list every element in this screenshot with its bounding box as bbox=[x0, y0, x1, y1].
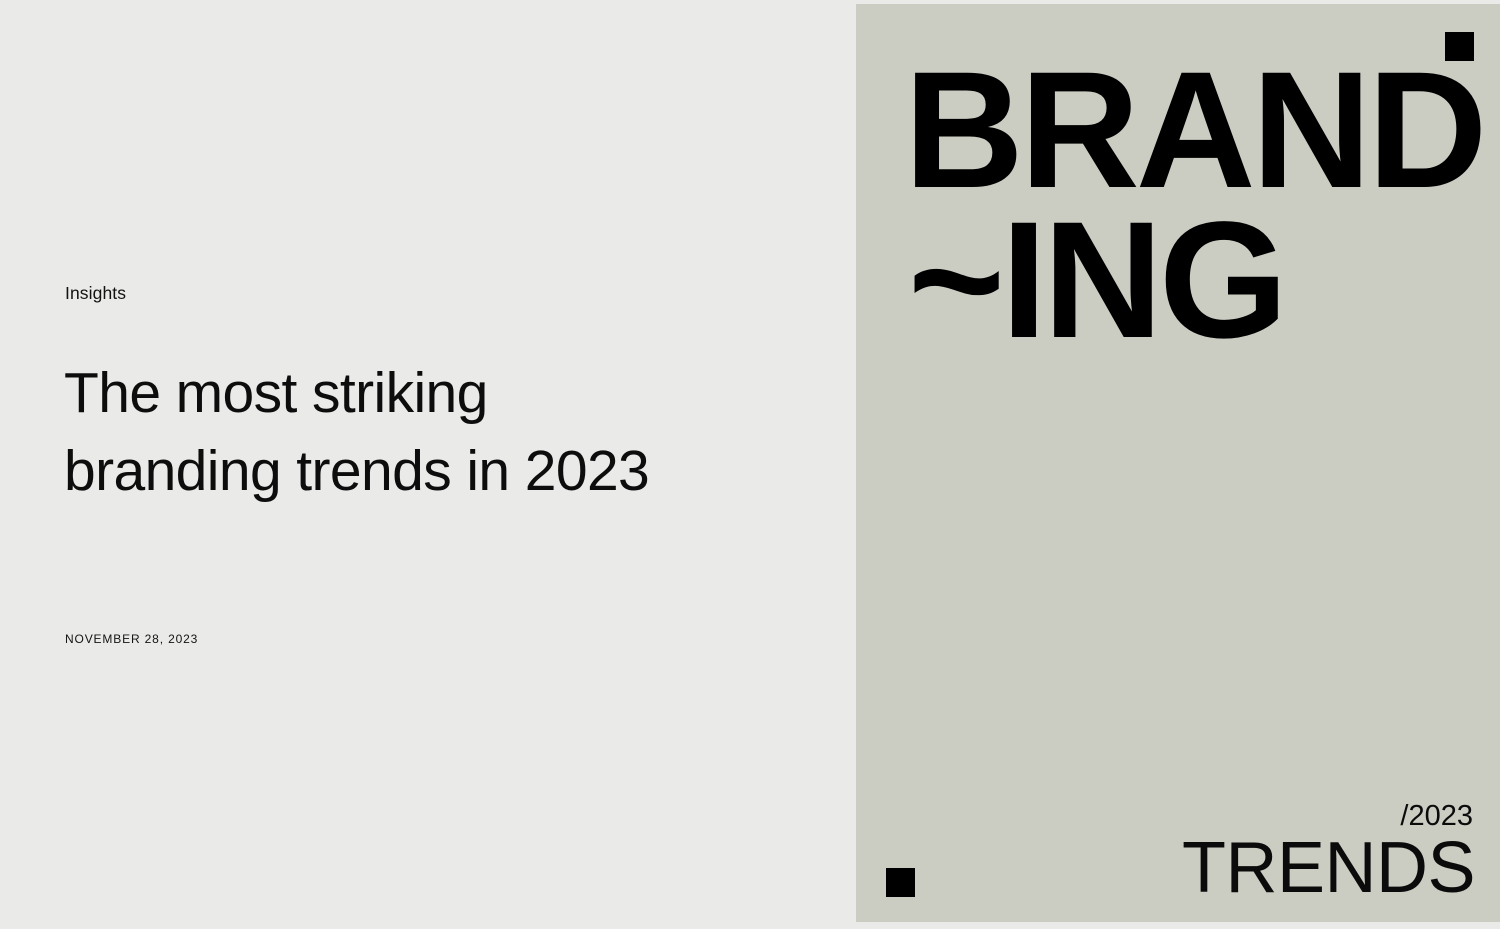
poster-trends-label: TRENDS bbox=[1182, 832, 1475, 904]
article-text-pane: Insights The most striking branding tren… bbox=[0, 0, 856, 929]
poster-panel: BRAND ~ING /2023 TRENDS bbox=[856, 4, 1500, 922]
square-mark-bottom-left-icon bbox=[886, 868, 915, 897]
poster-wordmark-line-2: ~ING bbox=[904, 206, 1484, 356]
article-card: Insights The most striking branding tren… bbox=[0, 0, 1500, 929]
article-headline: The most striking branding trends in 202… bbox=[64, 354, 704, 510]
poster-wordmark: BRAND ~ING bbox=[904, 56, 1484, 356]
poster-wordmark-line-1: BRAND bbox=[904, 56, 1484, 206]
poster-lockup: /2023 TRENDS bbox=[1182, 800, 1475, 904]
article-category-label[interactable]: Insights bbox=[65, 283, 126, 304]
article-publish-date: NOVEMBER 28, 2023 bbox=[65, 632, 198, 646]
